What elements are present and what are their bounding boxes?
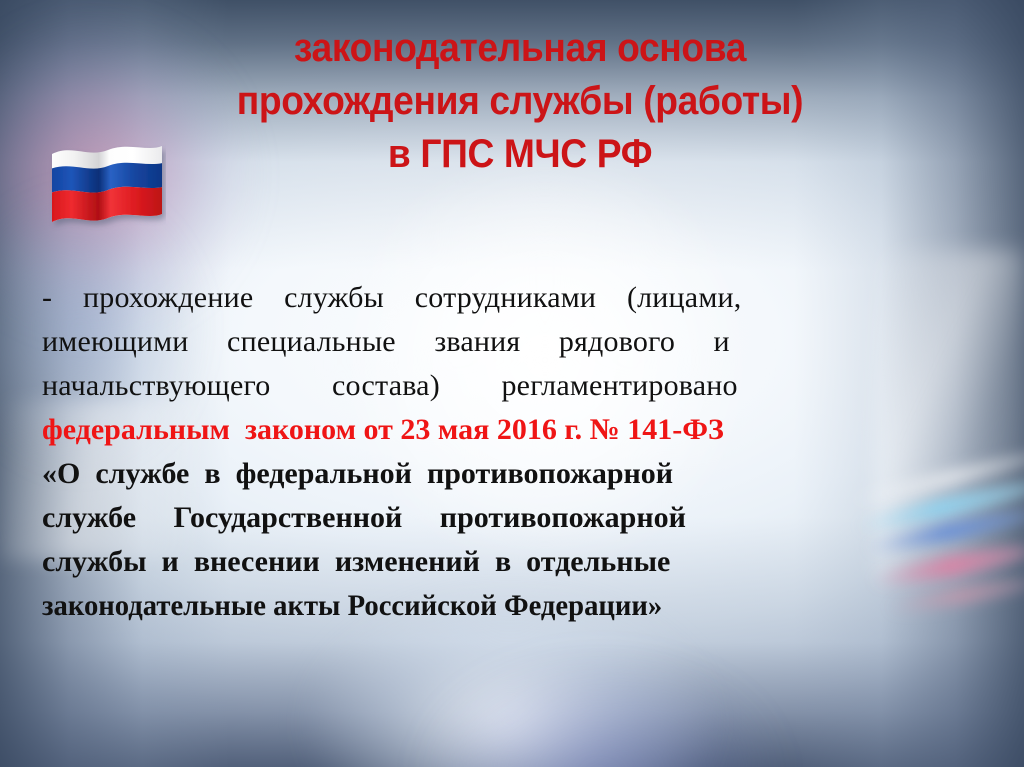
- slide-title: законодательная основа прохождения служб…: [120, 22, 920, 181]
- body-line-8: законодательные акты Российской Федераци…: [42, 584, 909, 628]
- slide-title-line-2: прохождения службы (работы): [148, 75, 892, 128]
- body-line-1: - прохождение службы сотрудниками (лицам…: [42, 276, 950, 320]
- russian-flag-icon: [48, 142, 166, 238]
- body-line-7: службы и внесении изменений в отдельные: [42, 540, 950, 584]
- slide-title-line-3: в ГПС МЧС РФ: [148, 128, 892, 181]
- slide-body: - прохождение службы сотрудниками (лицам…: [42, 276, 950, 628]
- body-line-3: начальствующего состава) регламентирован…: [42, 364, 950, 408]
- presentation-slide: законодательная основа прохождения служб…: [0, 0, 1024, 767]
- body-line-6: службе Государственной противопожарной: [42, 496, 950, 540]
- body-line-5: «О службе в федеральной противопожарной: [42, 452, 950, 496]
- slide-title-line-1: законодательная основа: [148, 22, 892, 75]
- body-line-2: имеющими специальные звания рядового и: [42, 320, 950, 364]
- body-line-4-law-reference: федеральным законом от 23 мая 2016 г. № …: [42, 408, 950, 452]
